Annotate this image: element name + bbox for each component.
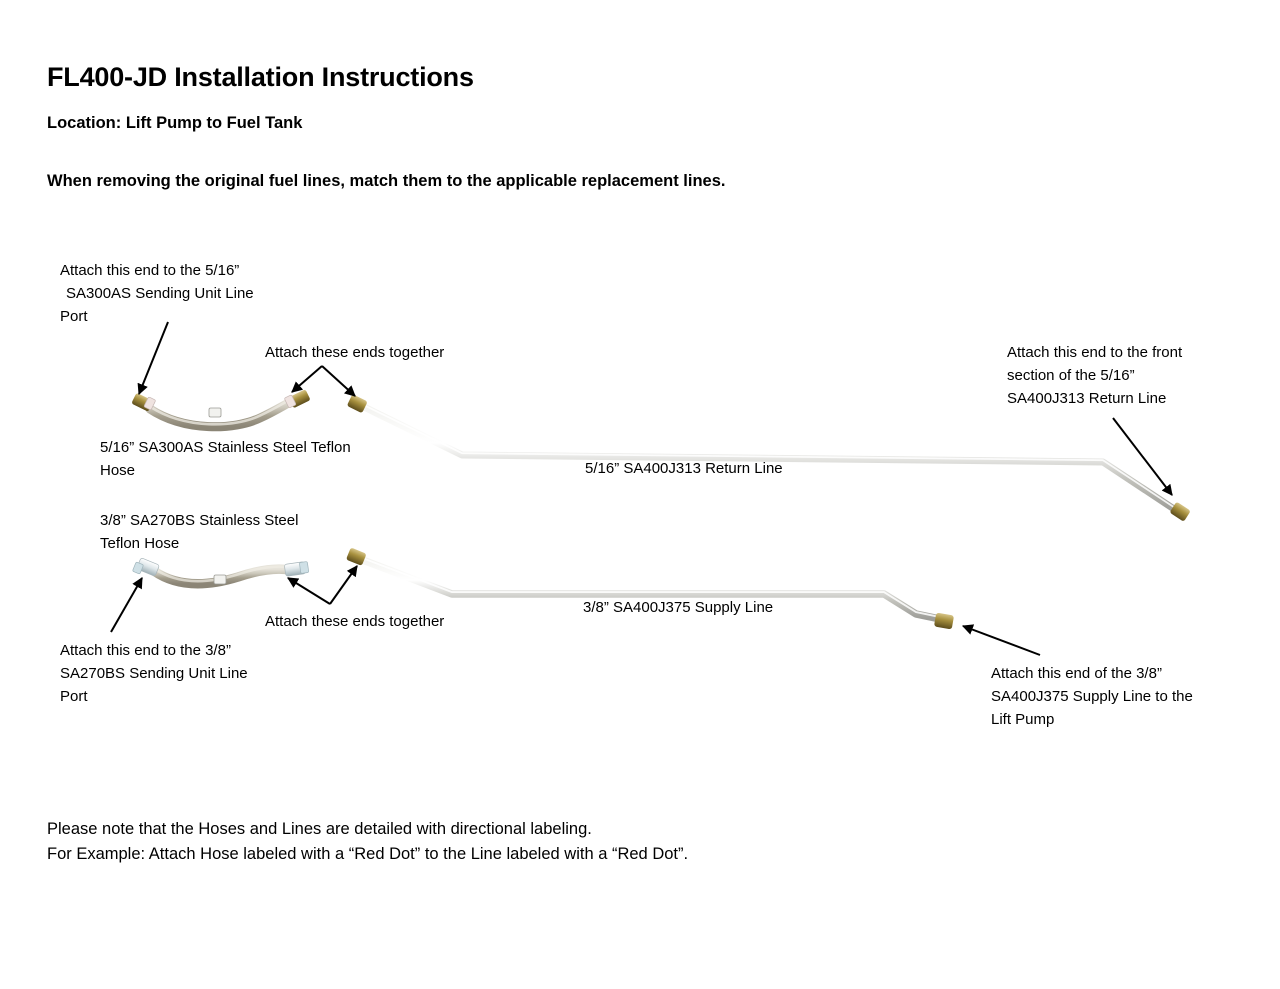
callout-sa270bs-sending-unit: Attach this end to the 3/8” SA270BS Send… [60,639,248,708]
callout-line: Attach this end to the front [1007,341,1182,364]
callout-sa400j375-lift-pump: Attach this end of the 3/8” SA400J375 Su… [991,662,1193,731]
label-hose-sa270bs: 3/8” SA270BS Stainless Steel Teflon Hose [100,509,298,555]
arrow-top-left [139,322,168,394]
arrow-bottom-left [111,578,142,632]
callout-sa300as-sending-unit: Attach this end to the 5/16” SA300AS Sen… [60,259,254,328]
callout-line: SA270BS Sending Unit Line [60,662,248,685]
callout-line: SA400J313 Return Line [1007,387,1182,410]
label-line: 3/8” SA270BS Stainless Steel [100,509,298,532]
hose-sa300as-graphic [131,389,310,427]
line-sa400j375-fitting-right [934,613,954,630]
line-sa400j313-fitting-left [347,394,368,413]
callout-attach-ends-bottom: Attach these ends together [265,610,444,633]
callout-line: SA300AS Sending Unit Line [60,282,254,305]
hose-sa300as-fitting-left [131,393,156,412]
fuel-line-diagram [0,0,1280,989]
callout-line: Attach these ends together [265,341,444,364]
hose-sa270bs-fitting-right [284,561,309,576]
label-line: Teflon Hose [100,532,298,555]
callout-line: Port [60,685,248,708]
callout-attach-ends-top: Attach these ends together [265,341,444,364]
hose-sa300as-fitting-right [284,389,310,408]
line-sa400j313-fitting-right [1169,502,1190,522]
hose-sa270bs-graphic [132,558,308,584]
callout-line: SA400J375 Supply Line to the [991,685,1193,708]
arrow-top-mid-right [322,366,355,396]
instruction-sheet-page: FL400-JD Installation Instructions Locat… [0,0,1280,989]
arrow-top-mid-left [292,366,322,392]
arrow-bottom-mid-right [288,578,330,604]
arrow-top-right [1113,418,1172,495]
label-hose-sa300as: 5/16” SA300AS Stainless Steel Teflon Hos… [100,436,351,482]
callout-sa400j313-front-section: Attach this end to the front section of … [1007,341,1182,410]
arrow-bottom-right [963,626,1040,655]
label-line: 5/16” SA400J313 Return Line [585,457,783,480]
label-line-sa400j313: 5/16” SA400J313 Return Line [585,457,783,480]
line-sa400j375-fitting-left [346,547,367,565]
callout-line: Attach these ends together [265,610,444,633]
callout-line: Lift Pump [991,708,1193,731]
callout-line: Attach this end of the 3/8” [991,662,1193,685]
label-line-sa400j375: 3/8” SA400J375 Supply Line [583,596,773,619]
callout-line: Attach this end to the 3/8” [60,639,248,662]
label-line: 3/8” SA400J375 Supply Line [583,596,773,619]
page-title: FL400-JD Installation Instructions [47,62,474,93]
label-line: 5/16” SA300AS Stainless Steel Teflon [100,436,351,459]
callout-line: Attach this end to the 5/16” [60,259,254,282]
label-line: Hose [100,459,351,482]
lead-instruction: When removing the original fuel lines, m… [47,172,725,191]
footer-note-red-dot-example: For Example: Attach Hose labeled with a … [47,845,688,864]
footer-note-directional-labeling: Please note that the Hoses and Lines are… [47,820,592,839]
callout-line: Port [60,305,254,328]
location-subtitle: Location: Lift Pump to Fuel Tank [47,114,302,133]
callout-line: section of the 5/16” [1007,364,1182,387]
hose-sa270bs-fitting-left [132,558,159,577]
arrow-bottom-mid-left [330,566,357,604]
